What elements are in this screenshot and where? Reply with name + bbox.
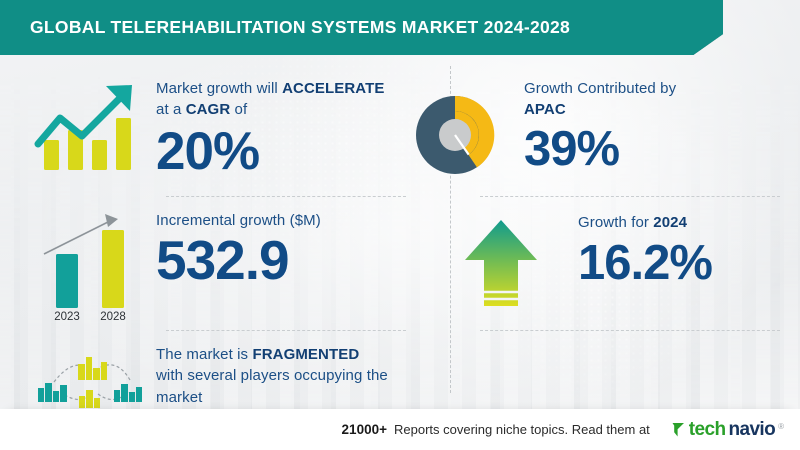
fragmented-line2: with several players occupying the [156,367,388,384]
horizontal-divider-right-2 [480,330,780,331]
cagr-line2-bold: CAGR [186,101,231,118]
panel-growth-2024-text: Growth for 2024 16.2% [578,212,712,288]
technavio-logo[interactable]: tech navio ® [671,419,784,441]
panel-incremental-growth: 2023 2028 Incremental growth ($M) 532.9 [30,210,430,327]
panel-cagr-text: Market growth will ACCELERATE at a CAGR … [156,78,385,178]
apac-line2-bold: APAC [524,101,566,118]
apac-headline: Growth Contributed by APAC [524,78,676,121]
horizontal-divider-left-1 [166,196,406,197]
cagr-value: 20% [156,125,385,178]
infographic-poster: GLOBAL TELEREHABILITATION SYSTEMS MARKET… [0,0,800,450]
panel-cagr: Market growth will ACCELERATE at a CAGR … [30,78,430,181]
fragmented-line1-pre: The market is [156,346,252,363]
cagr-line2-post: of [230,101,247,118]
fragmented-line3: market [156,389,202,406]
logo-text-tech: tech [689,419,726,441]
up-arrow-icon [462,218,540,323]
cagr-headline: Market growth will ACCELERATE at a CAGR … [156,78,385,121]
banner-fold-corner [693,34,723,55]
growth-2024-line1-pre: Growth for [578,214,653,231]
panel-apac: Growth Contributed by APAC 39% [482,78,792,183]
fragmented-headline: The market is FRAGMENTED with several pl… [156,344,388,408]
city-clusters-icon [30,344,148,417]
footer-bar: 21000+ Reports covering niche topics. Re… [0,409,800,450]
panel-growth-2024: Growth for 2024 16.2% [470,212,790,323]
two-bar-growth-icon: 2023 2028 [30,210,148,327]
fragmented-line1-bold: FRAGMENTED [252,346,359,363]
growth-2024-line1-bold: 2024 [653,214,687,231]
cagr-line1-pre: Market growth will [156,80,282,97]
cagr-line2-pre: at a [156,101,186,118]
panel-apac-text: Growth Contributed by APAC 39% [524,78,676,174]
title-banner: GLOBAL TELEREHABILITATION SYSTEMS MARKET… [0,0,723,55]
panel-incremental-text: Incremental growth ($M) 532.9 [156,210,321,288]
logo-text-navio: navio [728,419,775,441]
horizontal-divider-right-1 [480,196,780,197]
technavio-flag-icon [671,421,686,438]
bar-label-2023: 2023 [54,311,80,322]
report-count: 21000+ [342,422,387,437]
horizontal-divider-left-2 [166,330,406,331]
donut-chart-icon [412,92,498,183]
bar-label-2028: 2028 [100,311,126,322]
footer-text: Reports covering niche topics. Read them… [394,422,650,437]
footer-content: 21000+ Reports covering niche topics. Re… [342,419,800,441]
panel-fragmented-text: The market is FRAGMENTED with several pl… [156,344,388,408]
incremental-label: Incremental growth ($M) [156,210,321,231]
apac-value: 39% [524,125,676,174]
incremental-value: 532.9 [156,233,321,288]
growth-2024-value: 16.2% [578,239,712,288]
apac-line1: Growth Contributed by [524,80,676,97]
growth-bar-arrow-icon [30,78,148,181]
growth-2024-headline: Growth for 2024 [578,212,712,233]
cagr-line1-bold: ACCELERATE [282,80,384,97]
page-title: GLOBAL TELEREHABILITATION SYSTEMS MARKET… [30,17,570,38]
panel-fragmented: The market is FRAGMENTED with several pl… [30,344,430,417]
logo-trademark: ® [778,422,784,431]
